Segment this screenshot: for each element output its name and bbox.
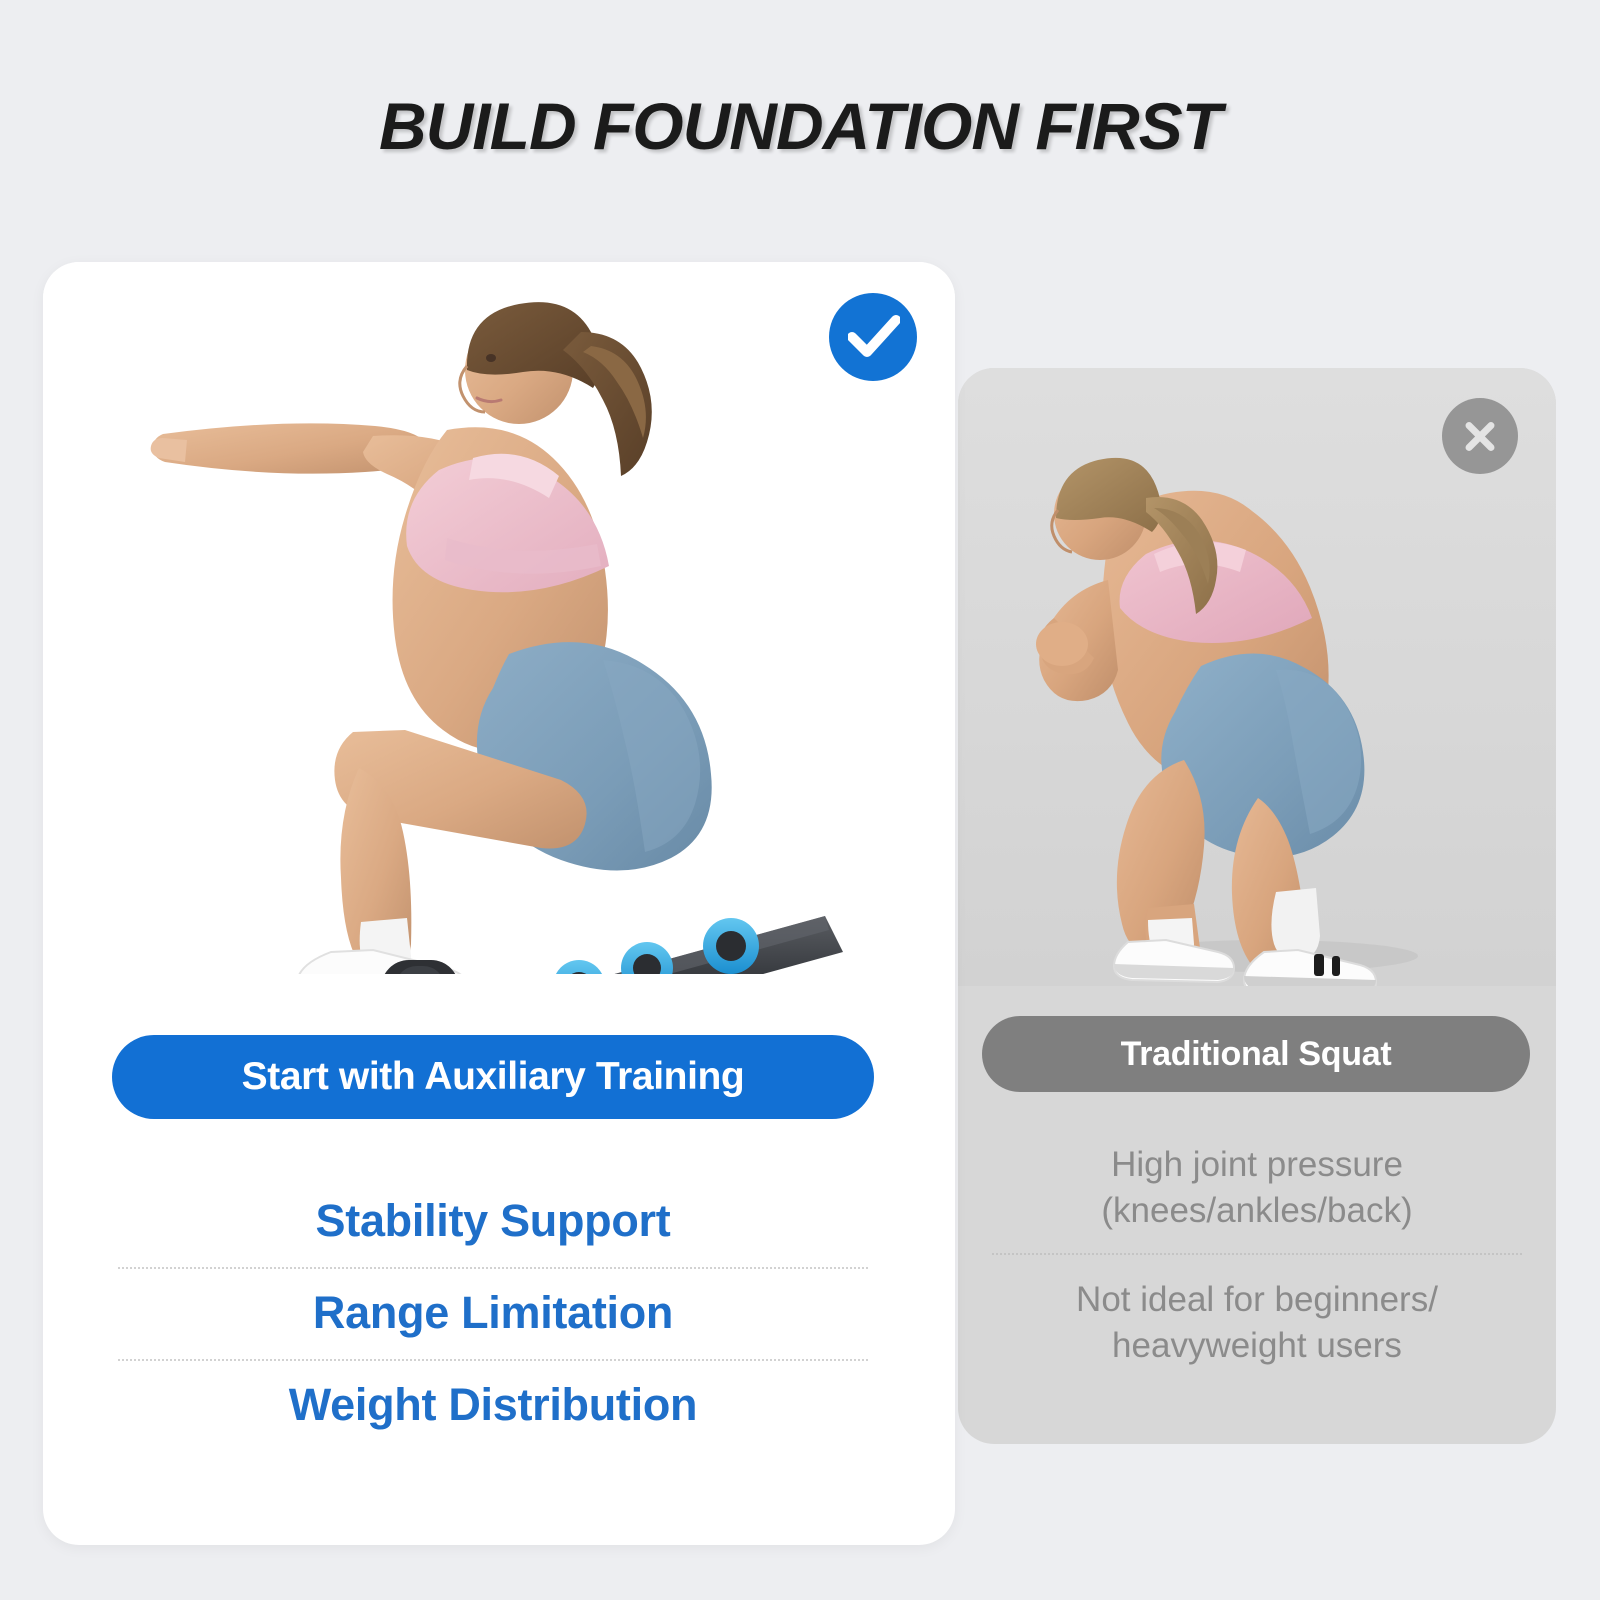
check-circle-icon [829,293,917,381]
traditional-squat-label[interactable]: Traditional Squat [982,1016,1530,1092]
list-divider [992,1253,1522,1255]
auxiliary-training-card: Start with Auxiliary Training Stability … [43,262,955,1545]
feature-item: Stability Support [118,1177,868,1267]
feature-list: Stability Support Range Limitation Weigh… [118,1177,868,1451]
traditional-squat-card: Traditional Squat High joint pressure (k… [958,368,1556,1444]
start-auxiliary-training-button[interactable]: Start with Auxiliary Training [112,1035,874,1119]
feature-item: Range Limitation [118,1269,868,1359]
auxiliary-training-photo [43,262,955,974]
drawback-item: High joint pressure (knees/ankles/back) [988,1128,1526,1251]
drawback-item: Not ideal for beginners/ heavyweight use… [988,1263,1526,1386]
comparison-infographic: BUILD FOUNDATION FIRST [0,0,1600,1600]
x-circle-icon [1442,398,1518,474]
drawback-list: High joint pressure (knees/ankles/back) … [988,1128,1526,1386]
feature-item: Weight Distribution [118,1361,868,1451]
page-title: BUILD FOUNDATION FIRST [0,88,1600,164]
